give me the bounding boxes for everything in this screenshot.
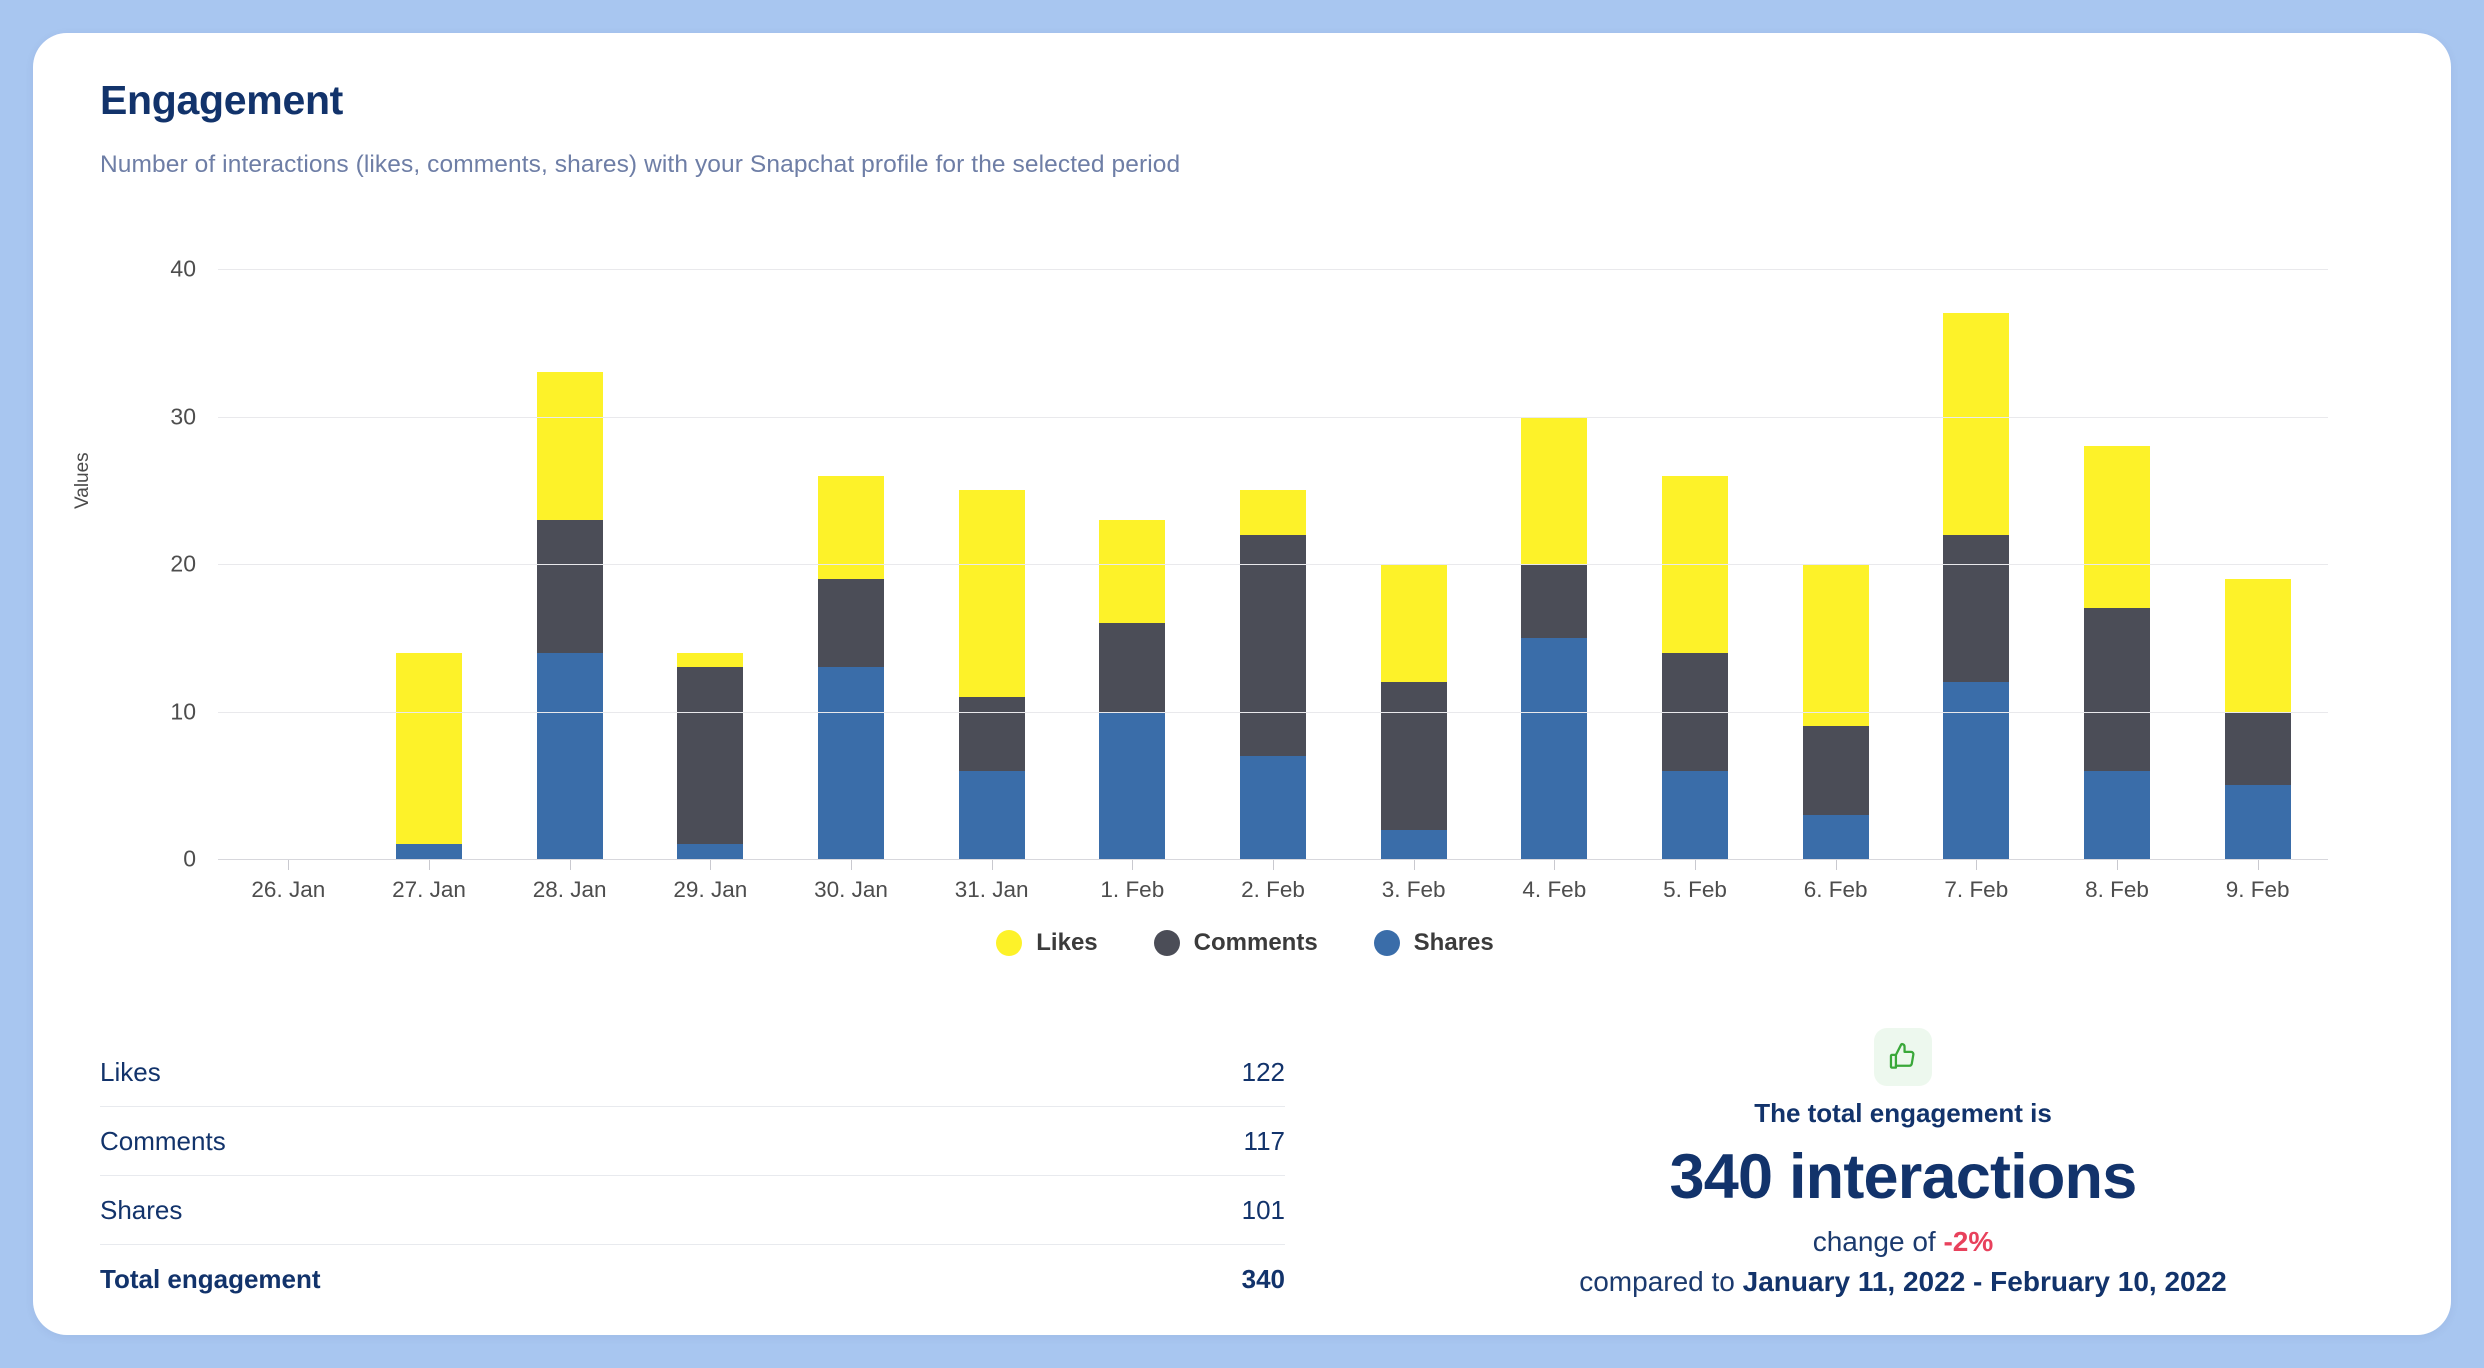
bar-segment-shares[interactable] — [677, 844, 743, 859]
summary-change-prefix: change of — [1813, 1226, 1944, 1257]
x-tickmark — [1976, 859, 1977, 870]
stat-value: 117 — [1244, 1126, 1285, 1157]
x-tickmark — [710, 859, 711, 870]
gridline-20 — [218, 564, 2328, 565]
chart-plot-area: 010203040 — [218, 269, 2328, 859]
x-tickmark — [851, 859, 852, 870]
bar-segment-likes[interactable] — [2084, 446, 2150, 608]
legend-label: Likes — [1036, 929, 1097, 957]
stat-label: Total engagement — [100, 1264, 321, 1295]
engagement-card: Engagement Number of interactions (likes… — [33, 33, 2451, 1335]
bar-segment-likes[interactable] — [537, 372, 603, 520]
stat-value: 122 — [1242, 1057, 1285, 1088]
stat-value: 101 — [1242, 1195, 1285, 1226]
engagement-chart: Values 010203040 26. Jan27. Jan28. Jan29… — [100, 229, 2390, 949]
bar-segment-shares[interactable] — [1099, 712, 1165, 860]
bar-segment-shares[interactable] — [537, 653, 603, 860]
summary-compare-prefix: compared to — [1579, 1266, 1742, 1297]
bar-stack[interactable] — [1240, 490, 1306, 859]
bar-segment-likes[interactable] — [1943, 313, 2009, 534]
bar-segment-likes[interactable] — [1099, 520, 1165, 623]
stat-label: Comments — [100, 1126, 226, 1157]
bar-segment-shares[interactable] — [959, 771, 1025, 860]
x-tickmark — [1554, 859, 1555, 870]
summary-change-value: -2% — [1943, 1226, 1993, 1257]
legend-swatch-comments — [1154, 930, 1180, 956]
x-tickmark — [429, 859, 430, 870]
gridline-30 — [218, 417, 2328, 418]
y-tick-40: 40 — [148, 256, 218, 283]
bar-segment-comments[interactable] — [677, 667, 743, 844]
bar-segment-comments[interactable] — [1943, 535, 2009, 683]
bar-segment-likes[interactable] — [959, 490, 1025, 697]
x-tickmark — [288, 859, 289, 870]
bar-segment-shares[interactable] — [1381, 830, 1447, 860]
chart-legend: LikesCommentsShares — [100, 929, 2390, 957]
bar-stack[interactable] — [959, 490, 1025, 859]
x-tickmark — [2117, 859, 2118, 870]
gridline-40 — [218, 269, 2328, 270]
bar-segment-shares[interactable] — [1943, 682, 2009, 859]
stat-row: Shares101 — [100, 1176, 1285, 1245]
y-tick-0: 0 — [148, 846, 218, 873]
stat-row: Likes122 — [100, 1038, 1285, 1107]
summary-change: change of -2% — [1423, 1226, 2383, 1258]
bar-stack[interactable] — [537, 372, 603, 859]
legend-label: Shares — [1414, 929, 1494, 957]
bar-stack[interactable] — [677, 653, 743, 860]
bar-segment-shares[interactable] — [818, 667, 884, 859]
bar-segment-comments[interactable] — [1240, 535, 1306, 756]
gridline-10 — [218, 712, 2328, 713]
summary-compare: compared to January 11, 2022 - February … — [1423, 1266, 2383, 1298]
page-title: Engagement — [100, 77, 343, 124]
x-tick-label: 9. Feb — [2163, 877, 2353, 903]
summary-total: 340 interactions — [1423, 1143, 2383, 1212]
bar-segment-comments[interactable] — [537, 520, 603, 653]
bar-segment-likes[interactable] — [1803, 564, 1869, 726]
bar-segment-comments[interactable] — [959, 697, 1025, 771]
bar-stack[interactable] — [1662, 476, 1728, 860]
stat-label: Shares — [100, 1195, 182, 1226]
bar-stack[interactable] — [396, 653, 462, 860]
stat-row: Comments117 — [100, 1107, 1285, 1176]
engagement-stats-table: Likes122Comments117Shares101Total engage… — [100, 1038, 1285, 1314]
x-tickmark — [1836, 859, 1837, 870]
stat-row: Total engagement340 — [100, 1245, 1285, 1314]
engagement-summary: The total engagement is 340 interactions… — [1423, 1028, 2383, 1298]
bar-segment-comments[interactable] — [1381, 682, 1447, 830]
bar-segment-comments[interactable] — [1803, 726, 1869, 815]
bar-stack[interactable] — [2084, 446, 2150, 859]
bar-segment-comments[interactable] — [2084, 608, 2150, 770]
bar-segment-shares[interactable] — [2225, 785, 2291, 859]
x-tickmark — [2258, 859, 2259, 870]
page-subtitle: Number of interactions (likes, comments,… — [100, 151, 1180, 179]
y-tick-20: 20 — [148, 551, 218, 578]
bar-segment-shares[interactable] — [1803, 815, 1869, 859]
bar-segment-shares[interactable] — [1521, 638, 1587, 859]
y-tick-30: 30 — [148, 403, 218, 430]
y-axis-label: Values — [72, 452, 94, 509]
x-tickmark — [992, 859, 993, 870]
bar-stack[interactable] — [1521, 417, 1587, 860]
bar-segment-shares[interactable] — [1240, 756, 1306, 859]
legend-item-shares[interactable]: Shares — [1374, 929, 1494, 957]
bar-segment-comments[interactable] — [2225, 712, 2291, 786]
bar-segment-likes[interactable] — [2225, 579, 2291, 712]
bar-segment-likes[interactable] — [396, 653, 462, 845]
bar-stack[interactable] — [818, 476, 884, 860]
x-tickmark — [1695, 859, 1696, 870]
y-tick-10: 10 — [148, 698, 218, 725]
bar-segment-likes[interactable] — [1381, 564, 1447, 682]
thumbs-up-icon — [1874, 1028, 1932, 1086]
legend-item-likes[interactable]: Likes — [996, 929, 1097, 957]
summary-lead: The total engagement is — [1423, 1098, 2383, 1129]
bar-segment-likes[interactable] — [1240, 490, 1306, 534]
bar-segment-likes[interactable] — [677, 653, 743, 668]
bar-stack[interactable] — [1099, 520, 1165, 859]
summary-compare-range: January 11, 2022 - February 10, 2022 — [1743, 1266, 2227, 1297]
bar-segment-shares[interactable] — [396, 844, 462, 859]
x-tickmark — [1273, 859, 1274, 870]
x-tickmark — [570, 859, 571, 870]
legend-label: Comments — [1194, 929, 1318, 957]
x-tickmark — [1414, 859, 1415, 870]
legend-swatch-shares — [1374, 930, 1400, 956]
bar-segment-shares[interactable] — [1662, 771, 1728, 860]
stat-label: Likes — [100, 1057, 161, 1088]
stat-value: 340 — [1242, 1264, 1285, 1295]
bar-segment-comments[interactable] — [1099, 623, 1165, 712]
bar-segment-comments[interactable] — [818, 579, 884, 668]
legend-item-comments[interactable]: Comments — [1154, 929, 1318, 957]
bar-segment-shares[interactable] — [2084, 771, 2150, 860]
legend-swatch-likes — [996, 930, 1022, 956]
bar-segment-comments[interactable] — [1521, 564, 1587, 638]
bar-stack[interactable] — [2225, 579, 2291, 859]
bar-stack[interactable] — [1943, 313, 2009, 859]
gridline-0 — [218, 859, 2328, 860]
x-tickmark — [1132, 859, 1133, 870]
bar-segment-likes[interactable] — [1521, 417, 1587, 565]
